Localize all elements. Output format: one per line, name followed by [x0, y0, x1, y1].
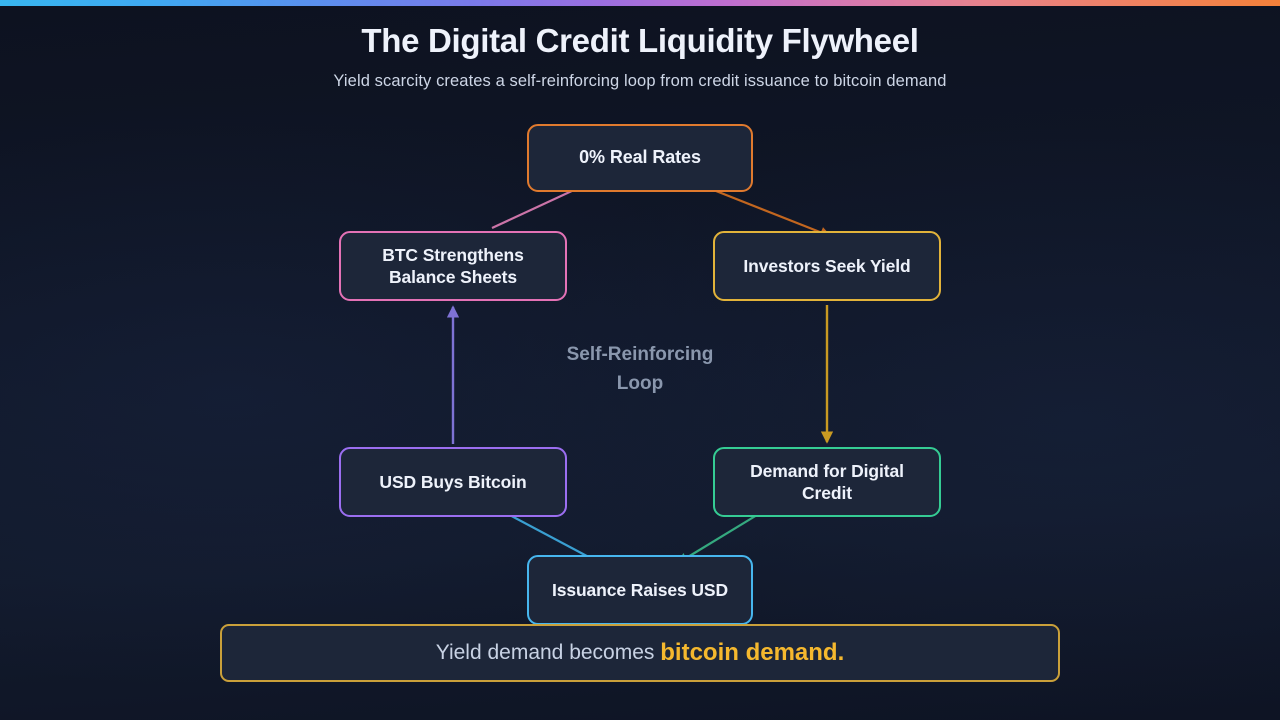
node-zero-real-rates[interactable]: 0% Real Rates [527, 124, 753, 192]
node-usd-buys-bitcoin[interactable]: USD Buys Bitcoin [339, 447, 567, 517]
node-issuance-raises-usd[interactable]: Issuance Raises USD [527, 555, 753, 625]
center-loop-label: Self-Reinforcing Loop [565, 341, 715, 398]
banner-accent-text: bitcoin demand. [660, 639, 844, 667]
node-demand-for-digital-credit[interactable]: Demand for Digital Credit [713, 447, 941, 517]
banner-lead-text: Yield demand becomes [436, 641, 661, 665]
flywheel-diagram: The Digital Credit Liquidity Flywheel Yi… [0, 0, 1280, 720]
node-investors-seek-yield[interactable]: Investors Seek Yield [713, 231, 941, 301]
conclusion-banner: Yield demand becomes bitcoin demand. [220, 624, 1060, 682]
node-btc-strengthens-balance-sheets[interactable]: BTC Strengthens Balance Sheets [339, 231, 567, 301]
